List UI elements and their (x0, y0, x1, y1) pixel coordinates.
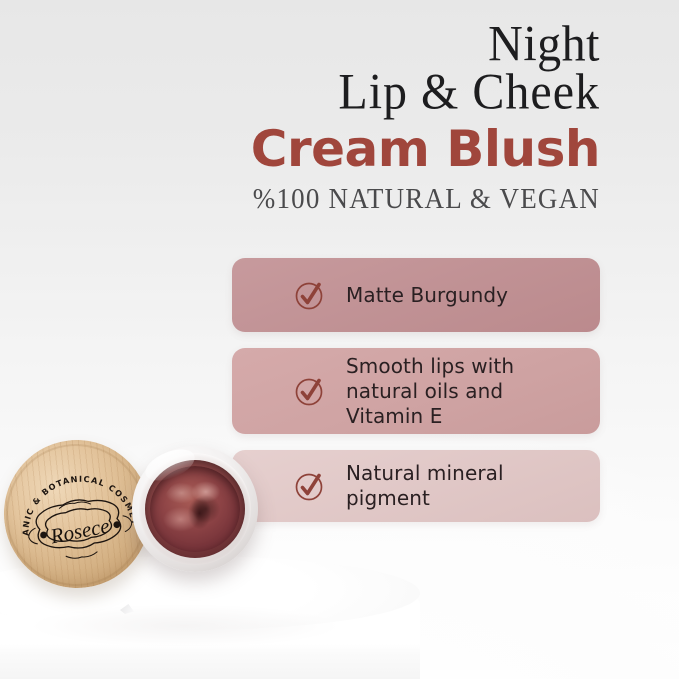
brand-name: Rosece (48, 513, 112, 548)
feature-pill-smooth-lips: Smooth lips with natural oils and Vitami… (232, 348, 600, 434)
headline-line-cream-blush: Cream Blush (180, 120, 600, 178)
feature-label: Matte Burgundy (346, 283, 508, 308)
check-circle-icon (294, 375, 326, 407)
feature-pill-matte-burgundy: Matte Burgundy (232, 258, 600, 332)
brand-logo-engraving: ORGANIC & BOTANICAL COSMETICS Rosece (9, 454, 146, 574)
cream-blush-product (150, 466, 240, 552)
check-circle-icon (294, 279, 326, 311)
check-circle-icon (294, 470, 326, 502)
claim-natural-vegan: %100 NATURAL & VEGAN (180, 182, 600, 215)
feature-label: Smooth lips with natural oils and Vitami… (346, 354, 514, 429)
feature-pill-natural-pigment: Natural mineral pigment (232, 450, 600, 522)
headline-line-lip-cheek: Lip & Cheek (180, 64, 600, 121)
product-marketing-image: Night Lip & Cheek Cream Blush %100 NATUR… (0, 0, 679, 679)
headline-block: Night Lip & Cheek Cream Blush %100 NATUR… (180, 18, 600, 214)
feature-label: Natural mineral pigment (346, 461, 504, 511)
pedestal-shadow (0, 596, 400, 656)
product-jar (132, 446, 258, 572)
